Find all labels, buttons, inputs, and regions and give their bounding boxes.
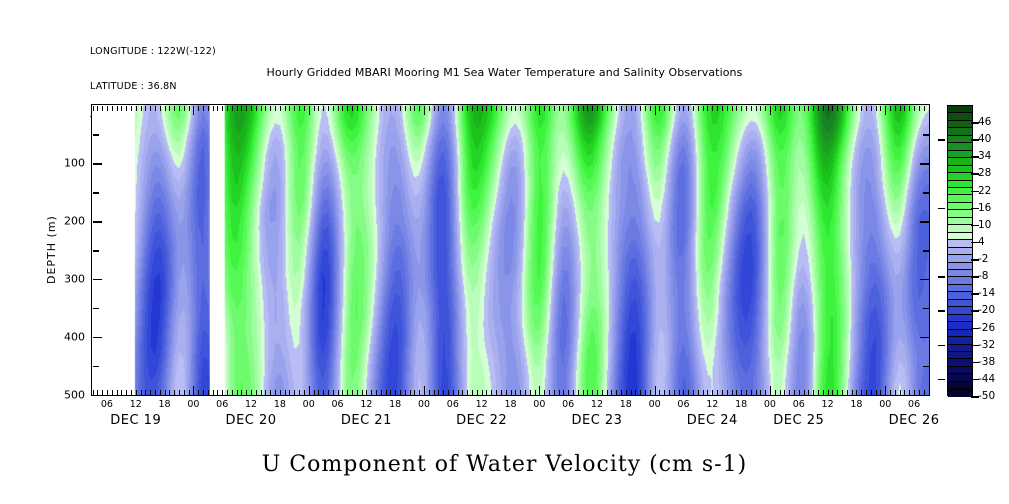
x-tick-bottom — [688, 390, 689, 395]
x-tick-bottom — [261, 390, 262, 395]
x-tick-bottom — [583, 390, 584, 395]
y-tick-minor-right — [923, 308, 929, 310]
x-tick-bottom — [808, 390, 809, 395]
colorbar-cell — [948, 173, 972, 180]
colorbar-tick — [971, 173, 979, 175]
x-tick-top — [107, 106, 108, 111]
colorbar-tick — [971, 156, 979, 158]
colorbar-cell — [948, 345, 972, 352]
x-tick-top — [880, 106, 881, 111]
x-tick-bottom — [506, 390, 507, 395]
x-axis-day-label: DEC 23 — [571, 413, 622, 428]
x-tick-top — [145, 106, 146, 111]
x-tick-top — [583, 106, 584, 111]
x-tick-bottom — [837, 390, 838, 395]
x-tick-top — [501, 106, 502, 111]
x-tick-bottom — [674, 390, 675, 395]
x-tick-bottom — [217, 390, 218, 395]
colorbar-cell — [948, 292, 972, 299]
x-tick-top — [131, 106, 132, 111]
x-tick-top — [592, 106, 593, 111]
x-tick-top — [799, 106, 800, 111]
x-tick-bottom — [107, 390, 108, 395]
x-tick-bottom — [602, 390, 603, 395]
x-tick-bottom — [828, 390, 829, 395]
x-tick-bottom — [275, 390, 276, 395]
colorbar-tick-left — [938, 139, 945, 141]
x-axis-hour-label: 00 — [764, 399, 776, 410]
colorbar-tick-label: -14 — [978, 287, 995, 299]
x-tick-top — [597, 106, 598, 111]
colorbar-tick-label: -32 — [978, 339, 995, 351]
x-tick-top — [775, 106, 776, 111]
x-tick-top — [347, 106, 348, 111]
x-tick-bottom — [679, 390, 680, 395]
x-tick-top — [506, 106, 507, 111]
x-tick-top — [698, 106, 699, 111]
x-tick-bottom — [712, 390, 713, 395]
x-tick-bottom — [443, 390, 444, 395]
colorbar-cell — [948, 322, 972, 329]
x-tick-top — [520, 106, 521, 111]
x-tick-top — [659, 106, 660, 111]
colorbar-cell — [948, 218, 972, 225]
x-tick-top — [535, 106, 536, 111]
x-tick-top — [852, 106, 853, 111]
x-tick-bottom — [780, 390, 781, 395]
x-tick-bottom — [165, 390, 166, 395]
x-tick-top — [400, 106, 401, 111]
x-tick-bottom — [141, 390, 142, 395]
colorbar-cell — [948, 277, 972, 284]
x-tick-top — [208, 106, 209, 111]
x-tick-top — [856, 106, 857, 111]
colorbar-cell — [948, 166, 972, 173]
x-tick-top — [352, 106, 353, 111]
x-tick-top — [741, 106, 742, 111]
x-tick-bottom — [246, 390, 247, 395]
x-tick-bottom — [131, 390, 132, 395]
x-tick-bottom — [717, 390, 718, 395]
x-tick-top — [515, 106, 516, 111]
x-tick-bottom — [400, 390, 401, 395]
x-tick-top — [342, 106, 343, 111]
x-tick-top — [472, 106, 473, 111]
x-tick-bottom — [390, 390, 391, 395]
x-tick-top — [467, 106, 468, 111]
x-tick-bottom — [698, 390, 699, 395]
x-tick-bottom — [117, 390, 118, 395]
x-tick-top — [607, 106, 608, 111]
x-tick-bottom — [501, 390, 502, 395]
x-tick-top — [885, 106, 886, 115]
x-tick-bottom — [856, 390, 857, 395]
x-tick-bottom — [136, 390, 137, 395]
x-tick-top — [904, 106, 905, 111]
x-tick-bottom — [189, 390, 190, 395]
x-tick-top — [804, 106, 805, 111]
x-tick-top — [112, 106, 113, 111]
colorbar-cell — [948, 240, 972, 247]
x-tick-bottom — [616, 390, 617, 395]
colorbar-cell — [948, 106, 972, 113]
x-tick-top — [712, 106, 713, 111]
colorbar-tick-label: -50 — [978, 390, 995, 402]
x-tick-top — [621, 106, 622, 111]
y-tick-major-left — [93, 279, 102, 281]
x-tick-top — [645, 106, 646, 111]
colorbar-tick — [971, 225, 979, 227]
x-tick-top — [338, 106, 339, 111]
x-tick-bottom — [736, 390, 737, 395]
x-tick-bottom — [328, 390, 329, 395]
colorbar-tick-label: 46 — [978, 116, 991, 128]
x-axis-hour-label: 12 — [822, 399, 834, 410]
colorbar-cell — [948, 121, 972, 128]
colorbar-tick-label: 10 — [978, 219, 991, 231]
x-tick-top — [568, 106, 569, 111]
x-tick-top — [246, 106, 247, 111]
colorbar-tick-left — [938, 379, 945, 381]
x-tick-top — [861, 106, 862, 111]
colorbar-cell — [948, 210, 972, 217]
x-tick-bottom — [900, 390, 901, 395]
x-axis-day-label: DEC 19 — [110, 413, 161, 428]
x-tick-bottom — [477, 390, 478, 395]
x-tick-bottom — [232, 390, 233, 395]
x-tick-bottom — [914, 390, 915, 395]
x-tick-top — [314, 106, 315, 111]
x-tick-top — [679, 106, 680, 111]
x-axis-hour-label: 18 — [389, 399, 401, 410]
x-tick-top — [650, 106, 651, 111]
x-tick-top — [602, 106, 603, 111]
y-axis-label: 100 — [51, 157, 85, 170]
x-tick-top — [414, 106, 415, 111]
x-tick-bottom — [880, 390, 881, 395]
x-tick-top — [126, 106, 127, 111]
x-axis-hour-label: 18 — [504, 399, 516, 410]
latitude-text: LATITUDE : 36.8N — [90, 81, 216, 93]
colorbar-cell — [948, 374, 972, 381]
colorbar-tick-left — [938, 345, 945, 347]
x-tick-bottom — [573, 390, 574, 395]
x-tick-top — [525, 106, 526, 111]
x-tick-top — [669, 106, 670, 111]
x-tick-bottom — [438, 390, 439, 395]
x-tick-bottom — [429, 390, 430, 395]
x-tick-top — [318, 106, 319, 111]
x-tick-bottom — [169, 390, 170, 395]
x-tick-bottom — [597, 390, 598, 395]
x-tick-top — [333, 106, 334, 111]
x-tick-bottom — [703, 390, 704, 395]
colorbar-tick — [971, 122, 979, 124]
x-tick-top — [395, 106, 396, 111]
x-axis-hour-label: 06 — [908, 399, 920, 410]
colorbar-tick — [971, 276, 979, 278]
x-tick-bottom — [371, 390, 372, 395]
x-tick-top — [549, 106, 550, 111]
x-tick-top — [232, 106, 233, 111]
x-tick-bottom — [664, 390, 665, 395]
x-tick-bottom — [160, 390, 161, 395]
y-axis-label: 400 — [51, 330, 85, 343]
y-axis-title: DEPTH (m) — [45, 215, 58, 284]
x-tick-bottom — [352, 390, 353, 395]
x-tick-top — [419, 106, 420, 111]
x-tick-bottom — [511, 390, 512, 395]
x-tick-bottom — [323, 390, 324, 395]
x-tick-bottom — [515, 390, 516, 395]
x-tick-top — [664, 106, 665, 111]
colorbar-cell — [948, 315, 972, 322]
x-tick-bottom — [804, 390, 805, 395]
x-tick-bottom — [876, 390, 877, 395]
colorbar-tick — [971, 379, 979, 381]
x-tick-bottom — [852, 390, 853, 395]
colorbar-tick — [971, 328, 979, 330]
colorbar-cell — [948, 181, 972, 188]
x-tick-top — [876, 106, 877, 111]
x-tick-top — [707, 106, 708, 111]
x-axis-hour-label: 06 — [216, 399, 228, 410]
colorbar-cell — [948, 382, 972, 389]
x-tick-top — [179, 106, 180, 111]
x-tick-bottom — [885, 386, 886, 395]
x-tick-top — [828, 106, 829, 111]
colorbar-tick — [971, 345, 979, 347]
colorbar-cell — [948, 136, 972, 143]
x-tick-top — [760, 106, 761, 111]
x-tick-bottom — [635, 390, 636, 395]
x-tick-top — [453, 106, 454, 111]
x-tick-top — [511, 106, 512, 111]
x-tick-bottom — [150, 390, 151, 395]
x-tick-top — [237, 106, 238, 111]
x-tick-top — [462, 106, 463, 111]
x-tick-bottom — [751, 390, 752, 395]
x-tick-top — [213, 106, 214, 111]
y-tick-minor-left — [93, 366, 99, 368]
x-tick-top — [635, 106, 636, 111]
colorbar-cell — [948, 270, 972, 277]
x-tick-top — [309, 106, 310, 115]
x-tick-bottom — [453, 390, 454, 395]
x-tick-bottom — [294, 390, 295, 395]
x-tick-bottom — [121, 390, 122, 395]
x-tick-bottom — [559, 390, 560, 395]
y-tick-minor-left — [93, 134, 99, 136]
x-axis-day-label: DEC 21 — [341, 413, 392, 428]
x-tick-top — [174, 106, 175, 111]
colorbar-tick-label: -44 — [978, 373, 995, 385]
x-tick-bottom — [448, 390, 449, 395]
x-axis-hour-label: 00 — [187, 399, 199, 410]
x-axis-hour-label: 06 — [677, 399, 689, 410]
x-tick-bottom — [386, 390, 387, 395]
x-tick-bottom — [314, 390, 315, 395]
x-tick-top — [184, 106, 185, 111]
x-tick-top — [539, 106, 540, 115]
x-tick-bottom — [208, 390, 209, 395]
x-tick-bottom — [823, 390, 824, 395]
colorbar-tick — [971, 293, 979, 295]
x-tick-top — [289, 106, 290, 111]
colorbar-tick — [971, 242, 979, 244]
x-tick-bottom — [376, 390, 377, 395]
colorbar-tick — [971, 139, 979, 141]
x-tick-top — [683, 106, 684, 111]
x-axis-day-label: DEC 20 — [226, 413, 277, 428]
x-tick-top — [655, 106, 656, 115]
x-tick-top — [789, 106, 790, 111]
x-tick-top — [285, 106, 286, 111]
y-tick-major-right — [920, 395, 929, 397]
colorbar-tick-label: 16 — [978, 202, 991, 214]
x-tick-top — [405, 106, 406, 111]
colorbar-tick-left — [938, 208, 945, 210]
x-tick-top — [736, 106, 737, 111]
x-axis-day-label: DEC 22 — [456, 413, 507, 428]
x-tick-top — [559, 106, 560, 111]
colorbar-tick-label: -20 — [978, 304, 995, 316]
x-tick-bottom — [645, 390, 646, 395]
x-tick-bottom — [669, 390, 670, 395]
x-tick-top — [189, 106, 190, 111]
x-axis-hour-label: 06 — [793, 399, 805, 410]
x-tick-bottom — [145, 390, 146, 395]
colorbar-cell — [948, 248, 972, 255]
x-tick-top — [890, 106, 891, 111]
colorbar-tick-label: 28 — [978, 167, 991, 179]
x-tick-bottom — [338, 390, 339, 395]
x-tick-bottom — [280, 390, 281, 395]
x-tick-top — [895, 106, 896, 111]
x-tick-bottom — [482, 390, 483, 395]
x-tick-bottom — [434, 390, 435, 395]
x-tick-top — [294, 106, 295, 111]
colorbar-cell — [948, 128, 972, 135]
x-tick-top — [929, 106, 930, 111]
x-tick-top — [323, 106, 324, 111]
colorbar-tick-label: -8 — [978, 270, 988, 282]
x-tick-top — [563, 106, 564, 111]
x-tick-top — [193, 106, 194, 115]
x-tick-bottom — [318, 390, 319, 395]
x-tick-top — [832, 106, 833, 111]
x-tick-top — [823, 106, 824, 111]
x-axis-hour-label: 18 — [735, 399, 747, 410]
x-tick-top — [722, 106, 723, 111]
x-tick-top — [756, 106, 757, 111]
x-tick-top — [631, 106, 632, 111]
x-tick-bottom — [462, 390, 463, 395]
x-tick-bottom — [347, 390, 348, 395]
colorbar-cell — [948, 188, 972, 195]
colorbar-cell — [948, 225, 972, 232]
colorbar-cell — [948, 352, 972, 359]
x-tick-bottom — [659, 390, 660, 395]
x-tick-top — [688, 106, 689, 111]
x-axis-hour-label: 18 — [620, 399, 632, 410]
y-tick-minor-right — [923, 134, 929, 136]
x-tick-bottom — [256, 390, 257, 395]
x-tick-bottom — [842, 390, 843, 395]
x-tick-top — [150, 106, 151, 111]
x-tick-top — [438, 106, 439, 111]
colorbar-cell — [948, 151, 972, 158]
x-tick-bottom — [381, 390, 382, 395]
x-tick-top — [448, 106, 449, 111]
x-tick-top — [136, 106, 137, 111]
x-tick-bottom — [491, 390, 492, 395]
x-tick-bottom — [270, 390, 271, 395]
x-tick-top — [117, 106, 118, 111]
y-tick-minor-left — [93, 192, 99, 194]
colorbar-cell — [948, 367, 972, 374]
y-tick-major-left — [93, 395, 102, 397]
y-tick-major-right — [920, 337, 929, 339]
x-tick-top — [304, 106, 305, 111]
x-tick-top — [155, 106, 156, 111]
x-axis-day-label: DEC 25 — [773, 413, 824, 428]
y-tick-major-right — [920, 221, 929, 223]
y-tick-minor-right — [923, 192, 929, 194]
x-tick-top — [847, 106, 848, 111]
x-tick-bottom — [832, 390, 833, 395]
x-tick-bottom — [544, 390, 545, 395]
x-tick-top — [587, 106, 588, 111]
x-tick-top — [871, 106, 872, 111]
x-tick-bottom — [112, 390, 113, 395]
x-tick-top — [808, 106, 809, 111]
x-tick-bottom — [871, 390, 872, 395]
colorbar-cell — [948, 113, 972, 120]
x-tick-top — [141, 106, 142, 111]
x-axis-day-label: DEC 26 — [889, 413, 940, 428]
x-axis-hour-label: 00 — [533, 399, 545, 410]
x-axis-hour-label: 18 — [274, 399, 286, 410]
x-tick-bottom — [693, 390, 694, 395]
x-tick-bottom — [155, 390, 156, 395]
colorbar-cell — [948, 285, 972, 292]
x-tick-top — [866, 106, 867, 111]
x-axis-hour-label: 06 — [447, 399, 459, 410]
y-tick-minor-left — [93, 250, 99, 252]
colorbar-cell — [948, 255, 972, 262]
x-tick-bottom — [895, 390, 896, 395]
y-tick-major-left — [93, 163, 102, 165]
x-tick-top — [496, 106, 497, 111]
x-axis-hour-label: 12 — [360, 399, 372, 410]
x-tick-top — [275, 106, 276, 111]
x-tick-top — [611, 106, 612, 111]
x-tick-top — [390, 106, 391, 111]
x-tick-top — [842, 106, 843, 111]
x-tick-top — [280, 106, 281, 111]
x-tick-top — [573, 106, 574, 111]
x-tick-top — [299, 106, 300, 111]
x-tick-bottom — [333, 390, 334, 395]
longitude-text: LONGITUDE : 122W(-122) — [90, 46, 216, 58]
x-axis-hour-label: 12 — [476, 399, 488, 410]
x-tick-bottom — [818, 390, 819, 395]
colorbar-cell — [948, 263, 972, 270]
x-tick-top — [813, 106, 814, 111]
colorbar-tick — [971, 362, 979, 364]
colorbar-cell — [948, 330, 972, 337]
